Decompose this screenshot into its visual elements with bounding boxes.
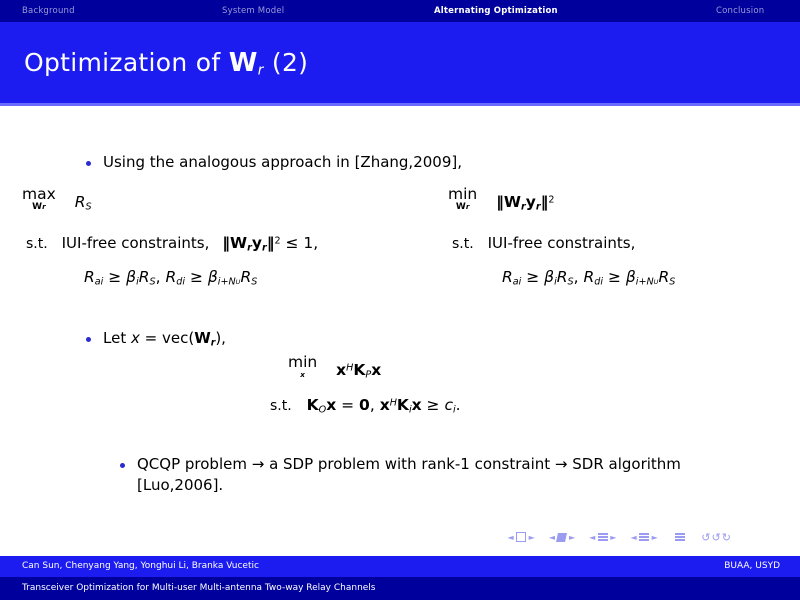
left-rate1-relation: ≥ [103,268,126,286]
nav-section-conclusion[interactable]: Conclusion [716,6,764,16]
footer-author-bar: Can Sun, Chenyang Yang, Yonghui Li, Bran… [0,556,800,577]
right-rate1-symbol: R [502,268,513,286]
forward-icon[interactable]: ↻ [722,531,732,544]
beamer-navigation-symbols: ◄ ► ◄ ► ◄ ► ◄ ► ↺↺↻ [505,528,795,546]
left-objective-subscript: S [86,202,92,213]
qcqp-obj-matrix: K [353,361,365,379]
left-norm-vector: y [252,234,262,252]
right-rate-constraints: Rai ≥ βiRS, Rdi ≥ βi+NURS [502,268,675,288]
right-st-label: s.t. [452,236,474,252]
footer-institutions: BUAA, USYD [724,561,780,571]
left-rate2-relation: ≥ [185,268,208,286]
qcqp-c2-constant: c [444,396,453,414]
qcqp-objective-line: min x xHKPx [288,358,381,383]
list-item: QCQP problem → a SDP problem with rank-1… [120,454,737,496]
nav-section-system-model[interactable]: System Model [222,6,284,16]
nav-section-alternating-optimization[interactable]: Alternating Optimization [434,6,558,16]
right-rate-separator: , [574,268,584,286]
frame-navigation-group[interactable]: ◄ ► [546,533,577,542]
right-rate1-beta: β [544,268,554,286]
qcqp-c2-x-right: x [412,396,422,414]
let-prefix: Let [103,329,131,347]
frame-icon[interactable] [557,533,568,542]
footer-authors: Can Sun, Chenyang Yang, Yonghui Li, Bran… [22,561,259,571]
left-operator-max: max Wr [22,187,56,212]
slide-icon[interactable] [516,532,526,542]
qcqp-constraint-line: s.t. KOx = 0, xHKix ≥ ci. [270,396,461,416]
left-st-label: s.t. [26,236,48,252]
qcqp-c1-equals: = [336,396,359,414]
slide: Background System Model Alternating Opti… [0,0,800,600]
bullet-dot-icon [120,463,125,468]
right-operator-variable: Wr [448,202,477,212]
left-rate1-symbol: R [84,268,95,286]
qcqp-obj-x-right: x [371,361,381,379]
right-rate1-relation: ≥ [521,268,544,286]
qcqp-operator-label: min [288,355,317,370]
right-constraint-line: s.t. IUI-free constraints, [452,234,635,252]
bullet-text-let-x-vec: Let x = vec(Wr), [103,328,226,354]
right-objective-line: min Wr ‖Wryr‖2 [448,190,554,215]
page-title-symbol: W [229,48,258,78]
document-icon[interactable] [675,531,685,542]
right-rate2-R: R [658,268,669,286]
slide-body: Using the analogous approach in [Zhang,2… [0,106,800,521]
qcqp-c2-relation: ≥ [422,396,445,414]
right-norm-matrix: W [504,193,521,211]
qcqp-c1-zero: 0 [359,396,370,414]
previous-slide-icon[interactable]: ◄ [508,533,514,542]
nav-section-background[interactable]: Background [22,6,75,16]
left-rate2-R: R [240,268,251,286]
qcqp-obj-x-left: x [336,361,346,379]
bullet-dot-icon [86,337,91,342]
section-navigation-group[interactable]: ◄ ► [628,531,660,542]
qcqp-operator-variable: x [288,370,317,380]
right-rate2-beta: β [626,268,636,286]
search-icon[interactable]: ↺ [711,531,721,544]
back-forward-group[interactable]: ↺↺↻ [701,531,732,544]
next-subsection-icon[interactable]: ► [610,533,616,542]
qcqp-c2-period: . [456,396,461,414]
let-tail: ), [215,329,226,347]
left-norm-matrix: W [230,234,247,252]
left-objective-symbol: R [75,193,86,211]
title-band: Optimization of Wr (2) [0,22,800,106]
section-navigation-bar: Background System Model Alternating Opti… [0,0,800,22]
left-operator-label: max [22,187,56,202]
left-objective-line: max Wr RS [22,190,92,215]
left-rate-separator: , [156,268,166,286]
bullet-text-qcqp-sdp-sdr: QCQP problem → a SDP problem with rank-1… [137,454,737,496]
left-constraint-line: s.t. IUI-free constraints, ‖Wryr‖2 ≤ 1, [26,234,318,254]
qcqp-c2-hermitian: H [390,397,397,408]
let-variable: x [131,329,140,347]
previous-section-icon[interactable]: ◄ [630,533,636,542]
let-equals-vec: = vec( [140,329,194,347]
back-icon[interactable]: ↺ [701,531,711,544]
subsection-navigation-group[interactable]: ◄ ► [587,531,619,542]
list-item: Using the analogous approach in [Zhang,2… [86,152,462,173]
right-operator-label: min [448,187,477,202]
left-rate2-beta: β [208,268,218,286]
previous-subsection-icon[interactable]: ◄ [589,533,595,542]
next-slide-icon[interactable]: ► [529,533,535,542]
right-constraint-text: IUI-free constraints, [488,234,636,252]
qcqp-st-label: s.t. [270,398,292,414]
qcqp-c2-x-left: x [380,396,390,414]
right-norm-power: 2 [548,194,554,205]
right-rate2-R-sub: S [669,277,675,288]
slide-navigation-group[interactable]: ◄ ► [505,532,537,542]
left-constraint-text: IUI-free constraints, [62,234,210,252]
previous-frame-icon[interactable]: ◄ [549,533,555,542]
section-icon[interactable] [639,531,649,542]
qcqp-c1-x: x [326,396,336,414]
footer-title-bar: Transceiver Optimization for Multi-user … [0,577,800,600]
right-rate2-sub: di [594,277,603,288]
page-title-suffix: (2) [264,48,309,77]
subsection-icon[interactable] [598,531,608,542]
left-operator-variable: Wr [22,202,56,212]
next-section-icon[interactable]: ► [652,533,658,542]
left-rate2-R-sub: S [251,277,257,288]
right-norm-open: ‖ [496,193,504,211]
right-rate2-relation: ≥ [603,268,626,286]
left-rate2-symbol: R [165,268,176,286]
left-norm-relation: ≤ 1, [281,234,319,252]
left-rate1-R: R [139,268,150,286]
qcqp-operator-min: min x [288,355,317,380]
list-item: Let x = vec(Wr), [86,328,226,354]
right-norm-vector: y [526,193,536,211]
presentation-navigation-group[interactable] [675,531,685,542]
left-rate1-beta: β [126,268,136,286]
qcqp-constraint-separator: , [370,396,380,414]
left-rate2-beta-sub: i+N [218,277,236,288]
next-frame-icon[interactable]: ► [569,533,575,542]
right-operator-min: min Wr [448,187,477,212]
qcqp-c1-matrix: K [307,396,319,414]
footer-paper-title: Transceiver Optimization for Multi-user … [22,583,376,593]
left-rate-constraints: Rai ≥ βiRS, Rdi ≥ βi+NURS [84,268,257,288]
left-rate2-sub: di [176,277,185,288]
left-norm-open: ‖ [222,234,230,252]
qcqp-c2-matrix: K [397,396,409,414]
right-rate2-symbol: R [583,268,594,286]
right-rate2-beta-sub: i+N [636,277,654,288]
page-title-prefix: Optimization of [24,48,229,77]
bullet-dot-icon [86,161,91,166]
let-matrix: W [194,329,211,347]
right-rate1-R: R [557,268,568,286]
bullet-text-using-analogous: Using the analogous approach in [Zhang,2… [103,152,462,173]
page-title: Optimization of Wr (2) [24,48,308,78]
